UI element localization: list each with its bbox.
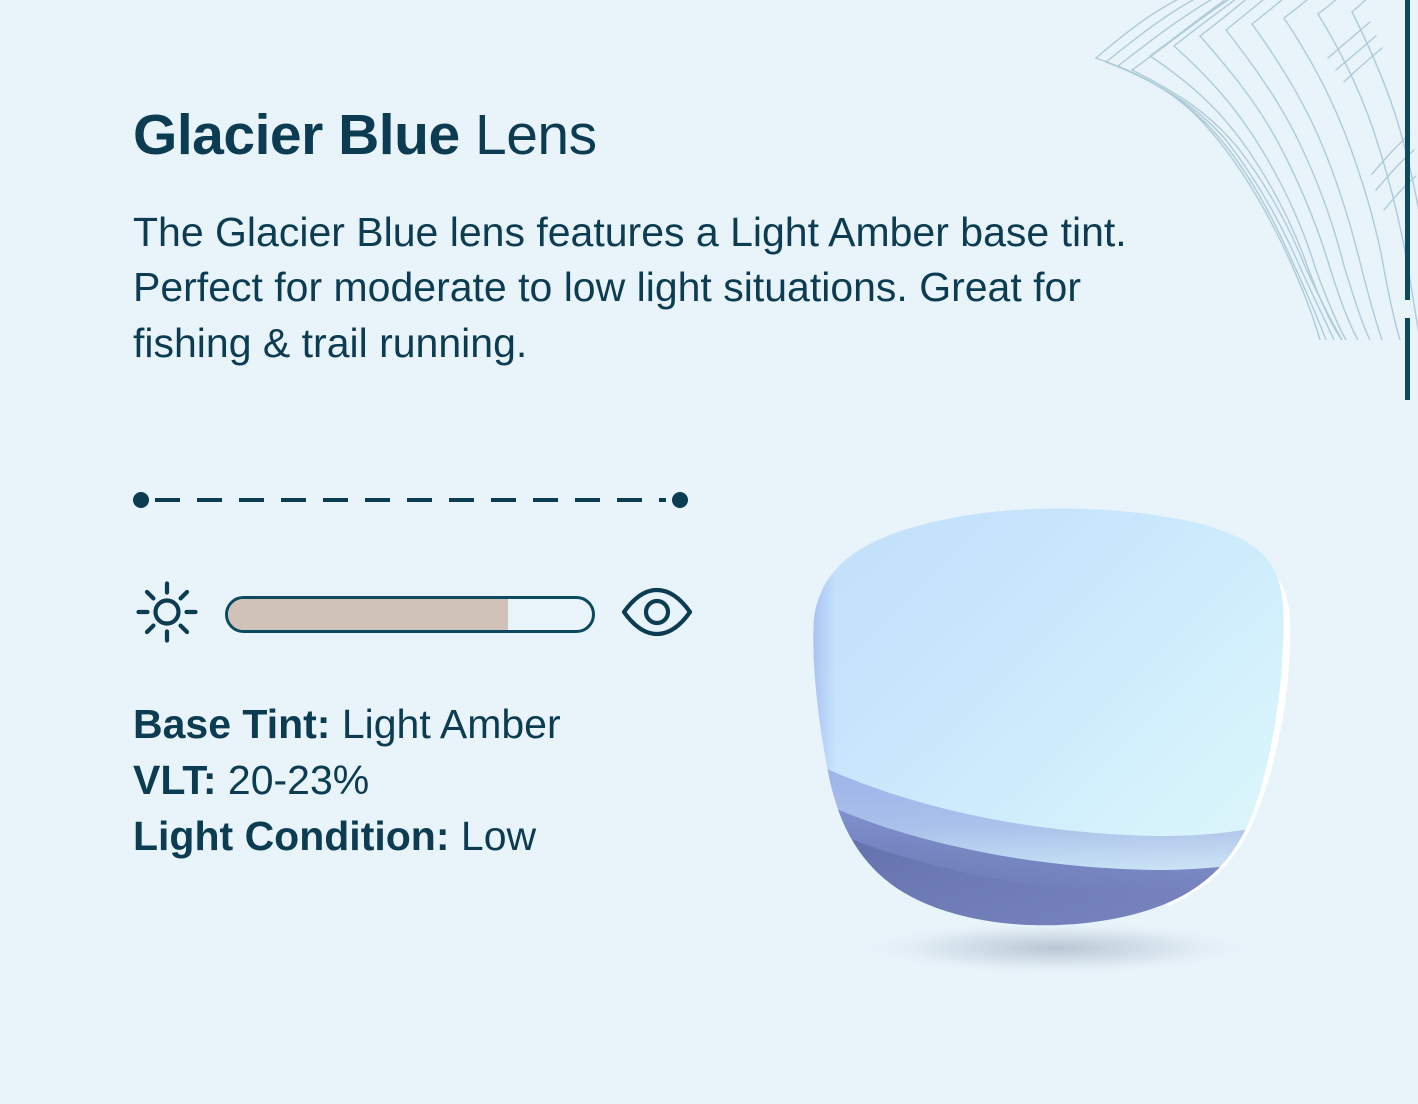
spec-list: Base Tint: Light Amber VLT: 20-23% Light… xyxy=(133,697,561,864)
vlt-progress-fill xyxy=(228,599,508,630)
spec-row-base-tint: Base Tint: Light Amber xyxy=(133,697,561,753)
lens-detail-card: Glacier Blue Lens The Glacier Blue lens … xyxy=(0,0,1418,1104)
light-transmission-meter xyxy=(133,578,695,651)
spec-label-vlt: VLT: xyxy=(133,757,217,803)
right-edge-accent-rule xyxy=(1405,0,1410,300)
text-column: Glacier Blue Lens The Glacier Blue lens … xyxy=(133,0,1193,372)
divider-dot-right xyxy=(672,492,688,508)
spec-value-vlt: 20-23% xyxy=(217,757,370,803)
page-title-regular: Lens xyxy=(460,103,597,167)
lens-left-edge-tint xyxy=(796,498,836,988)
right-edge-accent-rule-lower xyxy=(1405,318,1410,400)
spec-label-light-condition: Light Condition: xyxy=(133,813,450,859)
page-title: Glacier Blue Lens xyxy=(133,0,1193,167)
sun-icon xyxy=(133,578,201,651)
vlt-progress-track[interactable] xyxy=(225,596,595,633)
spec-row-vlt: VLT: 20-23% xyxy=(133,753,561,809)
spec-label-base-tint: Base Tint: xyxy=(133,701,330,747)
lens-product-image xyxy=(756,498,1326,988)
lens-description: The Glacier Blue lens features a Light A… xyxy=(133,167,1188,372)
divider-dash-line xyxy=(155,498,666,502)
lens-shadow xyxy=(866,922,1246,974)
spec-row-light-condition: Light Condition: Low xyxy=(133,809,561,865)
spec-value-light-condition: Low xyxy=(450,813,537,859)
eye-icon xyxy=(619,584,695,645)
page-title-bold: Glacier Blue xyxy=(133,103,460,167)
spec-value-base-tint: Light Amber xyxy=(330,701,560,747)
divider-dot-left xyxy=(133,492,149,508)
dashed-divider xyxy=(133,489,688,511)
